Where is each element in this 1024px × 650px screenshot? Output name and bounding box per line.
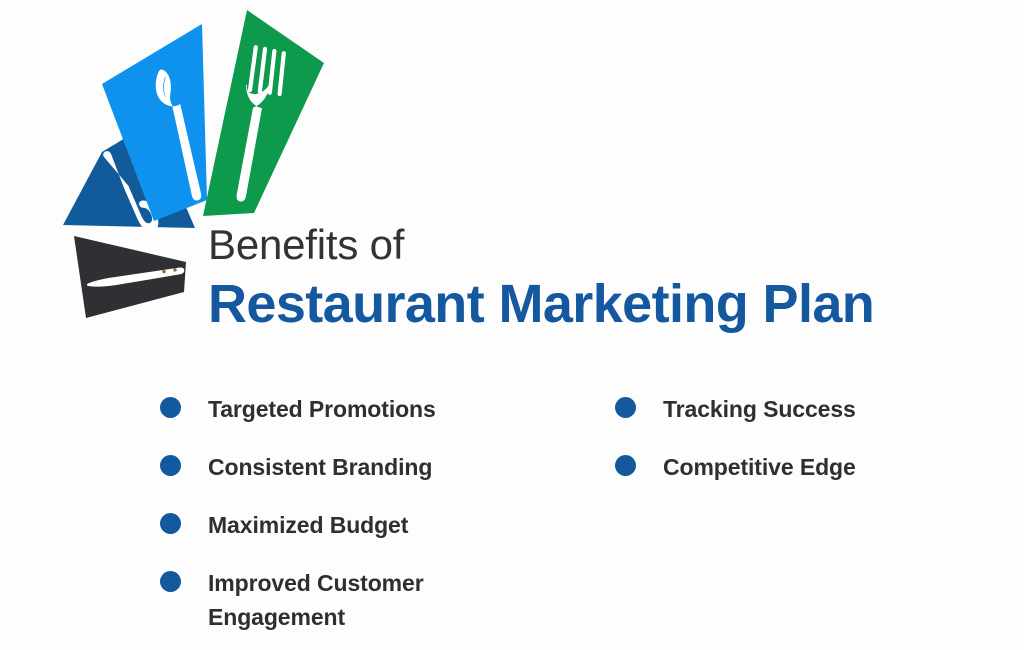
list-item-label: Targeted Promotions [208, 392, 436, 426]
page-title: Restaurant Marketing Plan [208, 273, 1008, 335]
list-item-label: Tracking Success [663, 392, 856, 426]
bullet-dot-icon [160, 571, 181, 592]
fork-wedge [203, 10, 324, 216]
bullet-dot-icon [615, 397, 636, 418]
bullet-dot-icon [160, 513, 181, 534]
list-item[interactable]: Improved Customer Engagement [160, 566, 615, 634]
list-item-label: Competitive Edge [663, 450, 856, 484]
bullet-dot-icon [615, 455, 636, 476]
heading-block: Benefits of Restaurant Marketing Plan [208, 219, 1008, 335]
knife-wedge [74, 236, 186, 318]
benefits-right-column: Tracking Success Competitive Edge [615, 392, 1000, 508]
list-item[interactable]: Targeted Promotions [160, 392, 615, 426]
bullet-dot-icon [160, 397, 181, 418]
benefits-left-column: Targeted Promotions Consistent Branding … [160, 392, 615, 650]
slide-canvas: Benefits of Restaurant Marketing Plan Ta… [0, 0, 1024, 650]
bullet-dot-icon [160, 455, 181, 476]
list-item[interactable]: Consistent Branding [160, 450, 615, 484]
list-item[interactable]: Tracking Success [615, 392, 1000, 426]
list-item[interactable]: Maximized Budget [160, 508, 615, 542]
list-item-label: Improved Customer Engagement [208, 566, 478, 634]
list-item[interactable]: Competitive Edge [615, 450, 1000, 484]
page-subtitle: Benefits of [208, 219, 1008, 271]
list-item-label: Maximized Budget [208, 508, 408, 542]
list-item-label: Consistent Branding [208, 450, 432, 484]
benefits-section: Targeted Promotions Consistent Branding … [160, 392, 1000, 650]
